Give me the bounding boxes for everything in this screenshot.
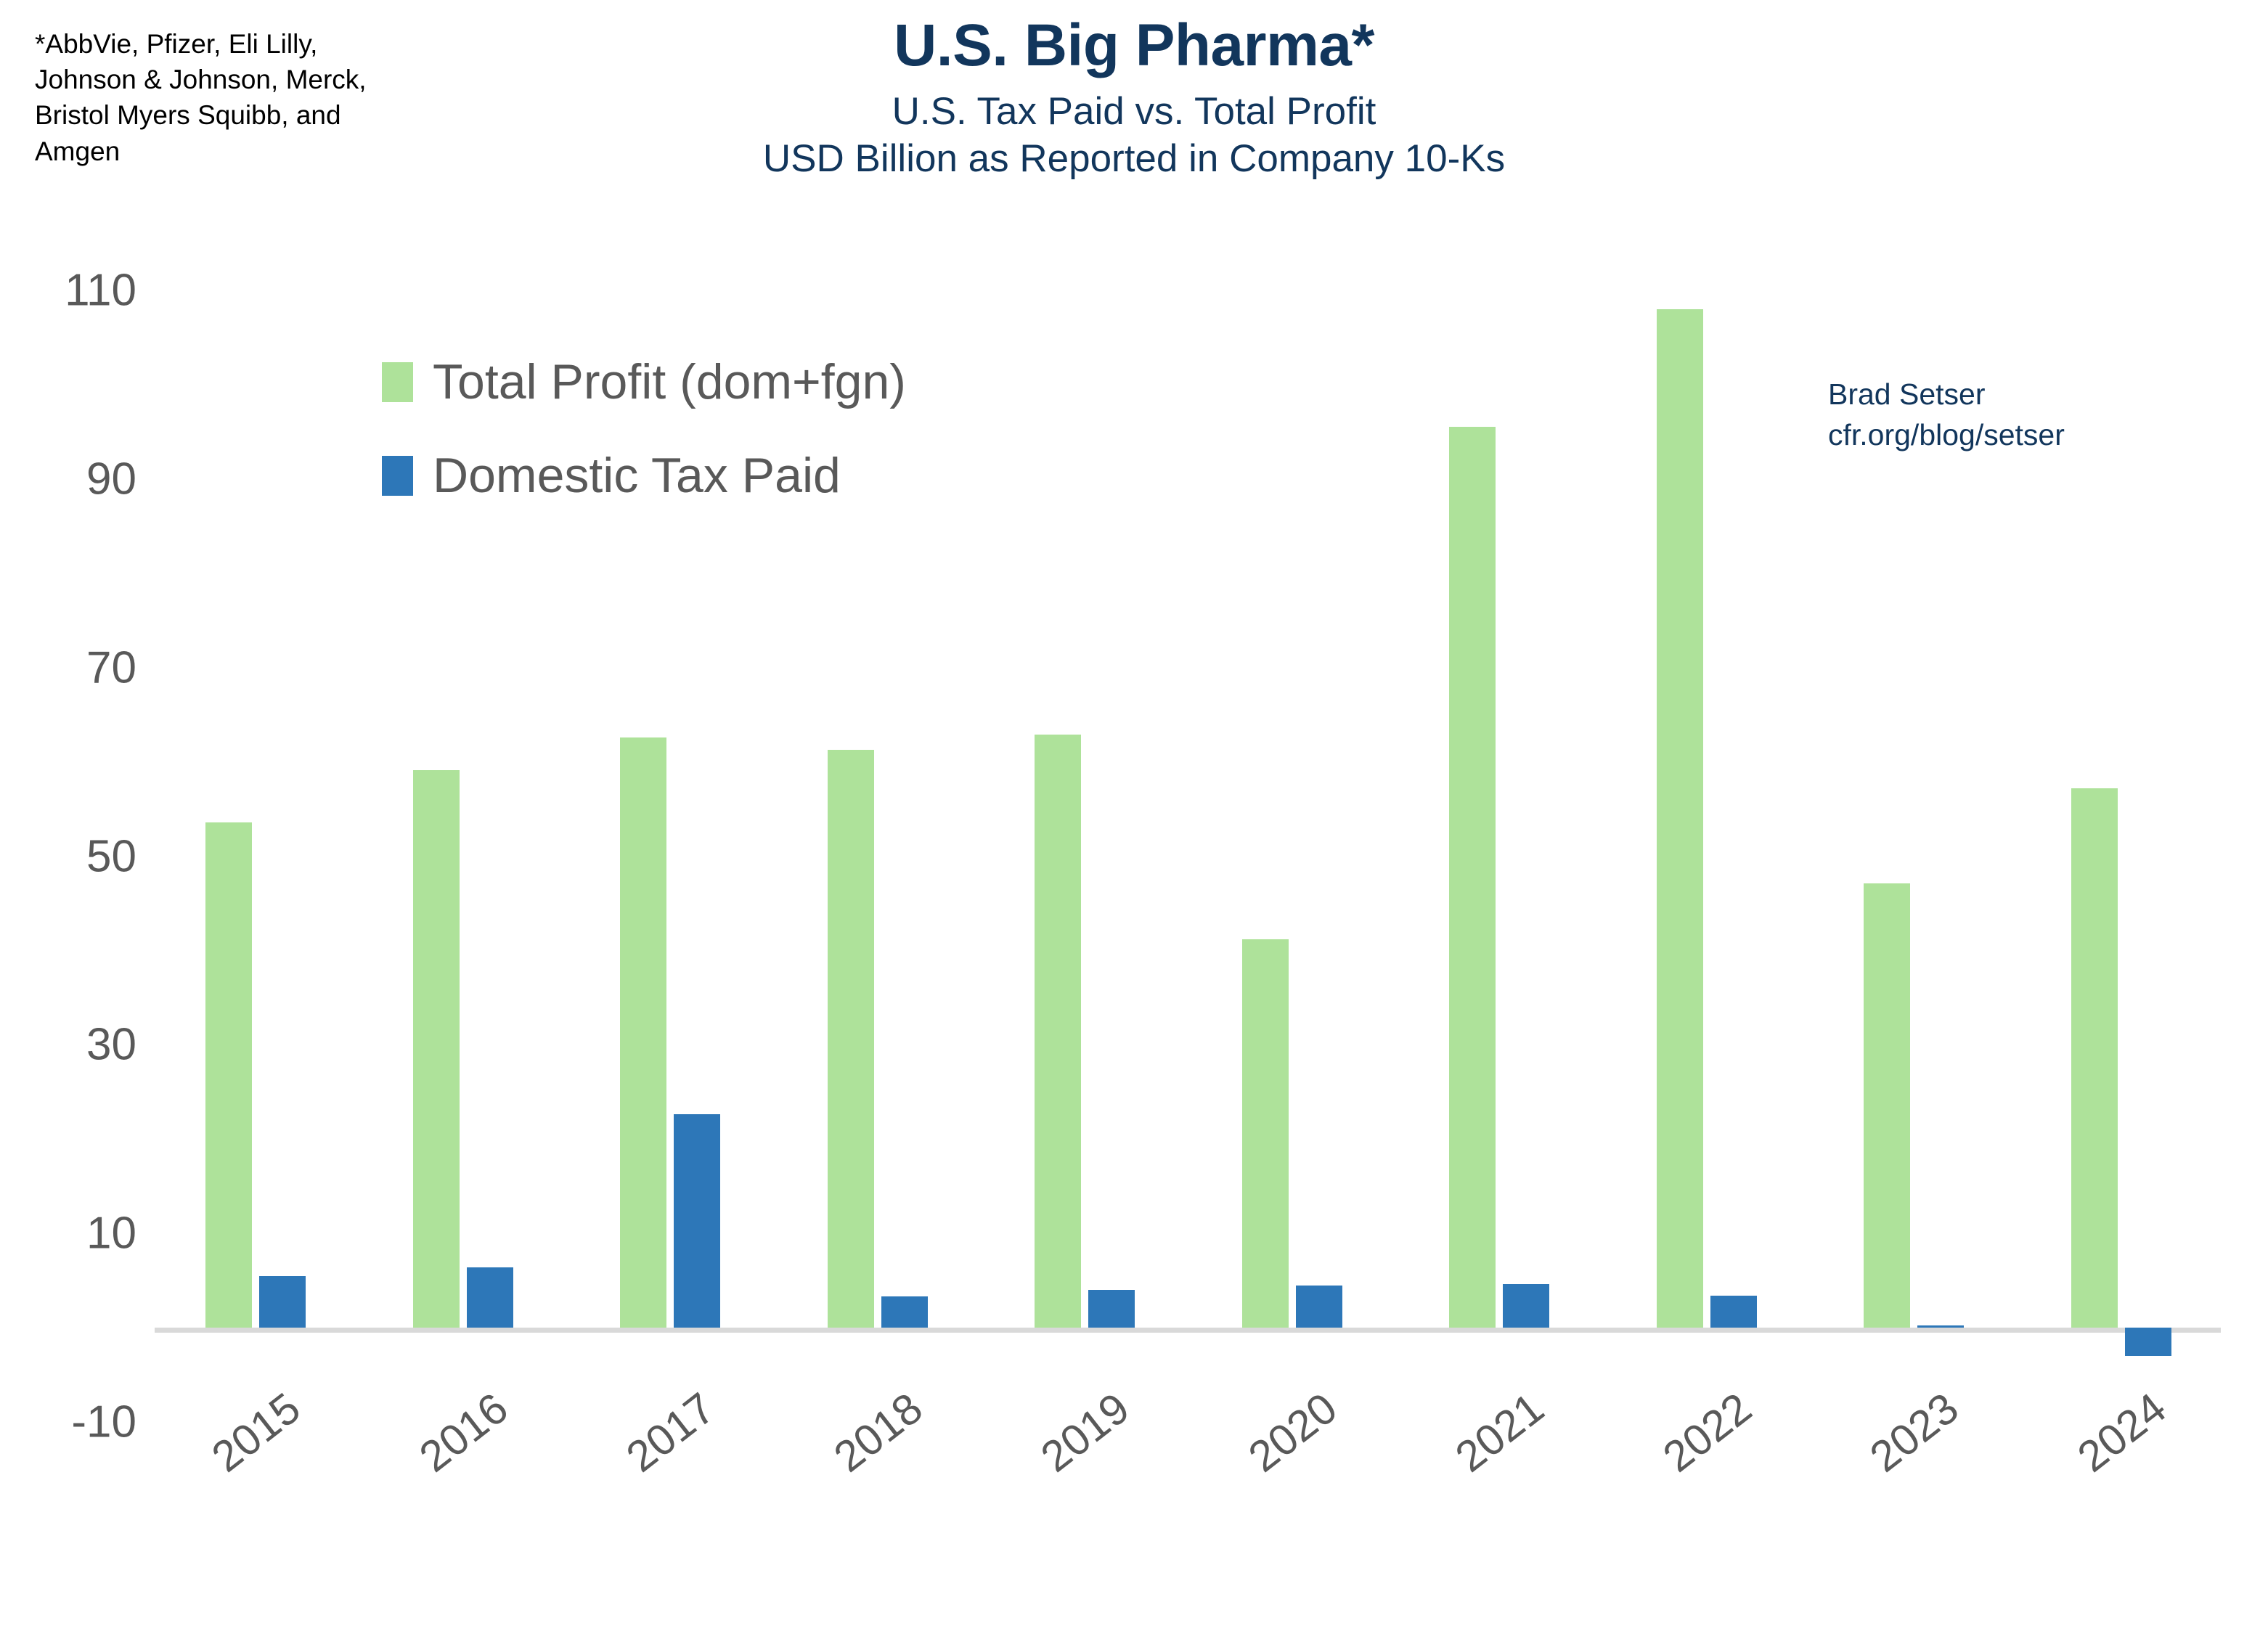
legend-swatch-icon-domestic-tax-paid [382,456,413,496]
bar-domestic-tax-paid[interactable] [1296,1286,1342,1328]
legend-label-total-profit: Total Profit (dom+fgn) [433,357,906,406]
legend-swatch-icon-total-profit [382,362,413,402]
bar-total-profit[interactable] [1449,427,1496,1328]
y-axis-tick-label: 10 [6,1208,136,1259]
y-axis-tick-label: 50 [6,830,136,882]
y-axis-tick-label: 110 [6,265,136,316]
chart-legend: Total Profit (dom+fgn) Domestic Tax Paid [382,357,906,544]
bar-total-profit[interactable] [620,737,666,1328]
y-axis-tick-label: -10 [6,1396,136,1447]
legend-label-domestic-tax-paid: Domestic Tax Paid [433,451,841,500]
x-axis-tick-label: 2018 [809,1383,931,1494]
bar-domestic-tax-paid[interactable] [1088,1290,1135,1328]
y-axis-tick-label: 70 [6,642,136,693]
x-axis-tick-label: 2023 [1845,1383,1968,1494]
legend-item-domestic-tax-paid[interactable]: Domestic Tax Paid [382,451,906,500]
x-axis-tick-label: 2024 [2052,1383,2175,1494]
x-axis-tick-label: 2019 [1016,1383,1139,1494]
x-axis-tick-label: 2022 [1638,1383,1761,1494]
bar-total-profit[interactable] [1864,883,1910,1328]
x-axis-tick-label: 2020 [1223,1383,1346,1494]
bar-total-profit[interactable] [1035,735,1081,1328]
bar-total-profit[interactable] [828,750,874,1328]
bar-total-profit[interactable] [1657,309,1703,1328]
bar-domestic-tax-paid[interactable] [1917,1325,1964,1328]
bar-total-profit[interactable] [2071,788,2118,1328]
bar-domestic-tax-paid[interactable] [467,1267,513,1328]
legend-item-total-profit[interactable]: Total Profit (dom+fgn) [382,357,906,406]
x-axis-tick-label: 2015 [187,1383,310,1494]
bar-domestic-tax-paid[interactable] [674,1114,720,1328]
x-axis-tick-label: 2017 [602,1383,725,1494]
bar-domestic-tax-paid[interactable] [259,1276,306,1328]
bar-domestic-tax-paid[interactable] [1710,1296,1757,1328]
bar-total-profit[interactable] [205,822,252,1328]
y-axis: 1109070503010-10 [0,0,136,1647]
bar-total-profit[interactable] [413,770,460,1328]
bar-chart-plot: 1109070503010-10 20152016201720182019202… [0,0,2268,1647]
y-axis-tick-label: 30 [6,1019,136,1071]
zero-baseline [155,1328,2221,1333]
bar-total-profit[interactable] [1242,939,1289,1328]
bar-domestic-tax-paid[interactable] [881,1296,928,1328]
y-axis-tick-label: 90 [6,453,136,504]
bar-domestic-tax-paid[interactable] [1503,1284,1549,1328]
x-axis-tick-label: 2021 [1431,1383,1554,1494]
x-axis-tick-label: 2016 [394,1383,517,1494]
bar-domestic-tax-paid[interactable] [2125,1328,2171,1356]
